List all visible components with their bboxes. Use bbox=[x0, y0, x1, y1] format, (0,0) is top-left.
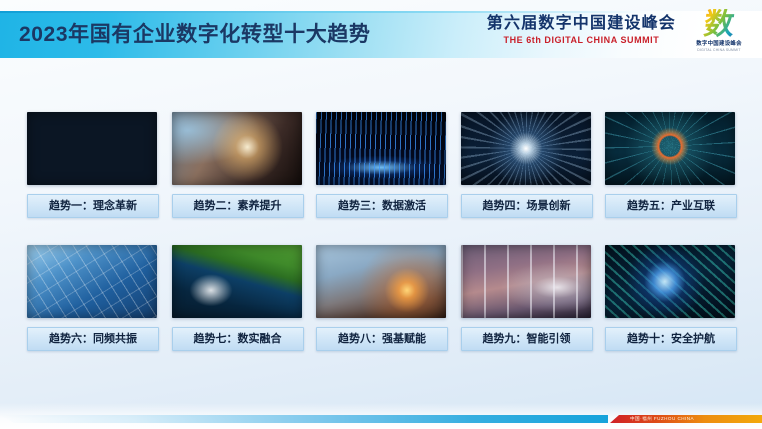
footer-blue-bar bbox=[0, 415, 608, 423]
forest-river-photo bbox=[172, 245, 302, 318]
trend-card[interactable]: 趋势八：强基赋能 bbox=[316, 245, 446, 351]
trend-card-label: 趋势三：数据激活 bbox=[316, 194, 448, 218]
trend-card[interactable]: 趋势一：理念革新 bbox=[27, 112, 157, 218]
slide-footer: 中国·福州 FUZHOU CHINA bbox=[0, 403, 762, 429]
summit-title-en: THE 6th DIGITAL CHINA SUMMIT bbox=[487, 36, 676, 45]
footer-location-text: 中国·福州 FUZHOU CHINA bbox=[630, 415, 694, 423]
iot-cloud-ring-photo bbox=[605, 112, 735, 185]
trend-card-label: 趋势五：产业互联 bbox=[605, 194, 737, 218]
trend-card[interactable]: 趋势七：数实融合 bbox=[172, 245, 302, 351]
solar-panels-photo bbox=[27, 245, 157, 318]
summit-title-cn: 第六届数字中国建设峰会 bbox=[487, 16, 676, 32]
trend-card-grid: 趋势一：理念革新趋势二：素养提升趋势三：数据激活趋势四：场景创新趋势五：产业互联… bbox=[27, 112, 735, 351]
cyber-security-shield-photo bbox=[605, 245, 735, 318]
summit-branding: 第六届数字中国建设峰会 THE 6th DIGITAL CHINA SUMMIT bbox=[487, 16, 676, 45]
tech-interface-hand-photo bbox=[172, 112, 302, 185]
summit-logo-glyph-icon: 数 bbox=[682, 9, 756, 41]
summit-logo-caption-cn: 数字中国建设峰会 bbox=[684, 41, 754, 48]
bridge-sunset-photo bbox=[316, 245, 446, 318]
digital-keyboard-photo bbox=[27, 112, 157, 185]
trend-card[interactable]: 趋势三：数据激活 bbox=[316, 112, 446, 218]
trend-card[interactable]: 趋势五：产业互联 bbox=[605, 112, 735, 218]
trend-card-row: 趋势六：同频共振趋势七：数实融合趋势八：强基赋能趋势九：智能引领趋势十：安全护航 bbox=[27, 245, 735, 351]
presentation-slide: 2023年国有企业数字化转型十大趋势 第六届数字中国建设峰会 THE 6th D… bbox=[0, 0, 762, 429]
page-title: 2023年国有企业数字化转型十大趋势 bbox=[19, 11, 371, 58]
trend-card-label: 趋势十：安全护航 bbox=[605, 327, 737, 351]
network-light-burst-photo bbox=[461, 112, 591, 185]
summit-logo-caption-en: DIGITAL CHINA SUMMIT bbox=[684, 48, 754, 53]
blue-data-stream-photo bbox=[316, 112, 446, 185]
trend-card[interactable]: 趋势四：场景创新 bbox=[461, 112, 591, 218]
summit-logo: 数 数字中国建设峰会 DIGITAL CHINA SUMMIT bbox=[684, 9, 754, 57]
trend-card[interactable]: 趋势二：素养提升 bbox=[172, 112, 302, 218]
trend-card[interactable]: 趋势六：同频共振 bbox=[27, 245, 157, 351]
trend-card-label: 趋势七：数实融合 bbox=[172, 327, 304, 351]
trend-card-label: 趋势六：同频共振 bbox=[27, 327, 159, 351]
trend-card[interactable]: 趋势十：安全护航 bbox=[605, 245, 735, 351]
trend-card-label: 趋势一：理念革新 bbox=[27, 194, 159, 218]
trend-card-label: 趋势八：强基赋能 bbox=[316, 327, 448, 351]
trend-card-label: 趋势二：素养提升 bbox=[172, 194, 304, 218]
trend-card-label: 趋势四：场景创新 bbox=[461, 194, 593, 218]
trend-card-row: 趋势一：理念革新趋势二：素养提升趋势三：数据激活趋势四：场景创新趋势五：产业互联 bbox=[27, 112, 735, 218]
trend-card-label: 趋势九：智能引领 bbox=[461, 327, 593, 351]
robot-cityscape-photo bbox=[461, 245, 591, 318]
trend-card[interactable]: 趋势九：智能引领 bbox=[461, 245, 591, 351]
